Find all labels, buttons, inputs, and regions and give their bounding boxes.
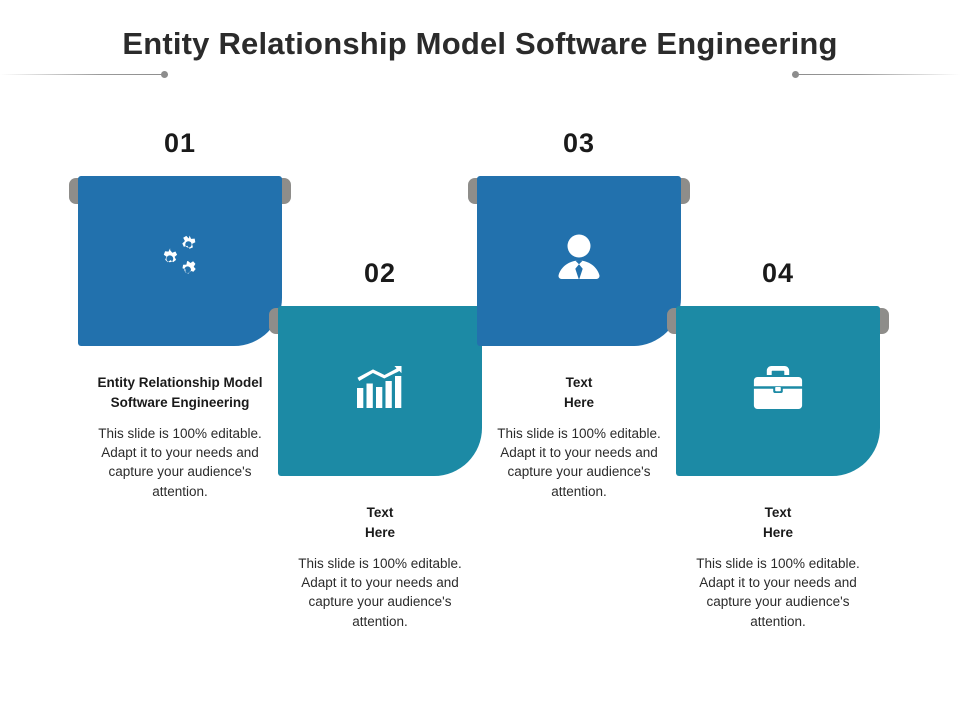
step-caption-body-01: This slide is 100% editable. Adapt it to… <box>60 424 300 501</box>
step-number-03: 03 <box>459 128 699 159</box>
panel-tab-left-icon <box>269 308 282 334</box>
step-caption-body-03: This slide is 100% editable. Adapt it to… <box>459 424 699 501</box>
step-panel-02[interactable] <box>278 306 482 476</box>
step-icon-02 <box>278 366 482 412</box>
step-icon-01 <box>78 234 282 284</box>
step-panel-03[interactable] <box>477 176 681 346</box>
step-panel-04[interactable] <box>676 306 880 476</box>
slide-canvas: Entity Relationship Model Software Engin… <box>0 0 960 720</box>
page-title: Entity Relationship Model Software Engin… <box>0 26 960 62</box>
step-caption-body-04: This slide is 100% editable. Adapt it to… <box>658 554 898 631</box>
panel-tab-right-icon <box>876 308 889 334</box>
title-divider-right <box>792 73 960 75</box>
divider-line <box>0 74 168 75</box>
step-number-04: 04 <box>658 258 898 289</box>
step-caption-title-04: Text Here <box>658 503 898 542</box>
step-icon-03 <box>477 233 681 281</box>
panel-tab-left-icon <box>69 178 82 204</box>
step-caption-04: Text Here This slide is 100% editable. A… <box>658 503 898 631</box>
step-caption-title-01: Entity Relationship Model Software Engin… <box>60 373 300 412</box>
step-number-02: 02 <box>260 258 500 289</box>
step-caption-body-02: This slide is 100% editable. Adapt it to… <box>260 554 500 631</box>
step-caption-03: Text Here This slide is 100% editable. A… <box>459 373 699 501</box>
panel-tab-left-icon <box>667 308 680 334</box>
divider-line <box>792 74 960 75</box>
panel-tab-right-icon <box>278 178 291 204</box>
step-panel-01[interactable] <box>78 176 282 346</box>
panel-tab-left-icon <box>468 178 481 204</box>
step-caption-02: Text Here This slide is 100% editable. A… <box>260 503 500 631</box>
title-divider-left <box>0 73 168 75</box>
step-icon-04 <box>676 366 880 410</box>
step-caption-title-02: Text Here <box>260 503 500 542</box>
divider-dot <box>792 71 799 78</box>
step-number-01: 01 <box>60 128 300 159</box>
divider-dot <box>161 71 168 78</box>
step-caption-01: Entity Relationship Model Software Engin… <box>60 373 300 501</box>
step-caption-title-03: Text Here <box>459 373 699 412</box>
panel-tab-right-icon <box>677 178 690 204</box>
